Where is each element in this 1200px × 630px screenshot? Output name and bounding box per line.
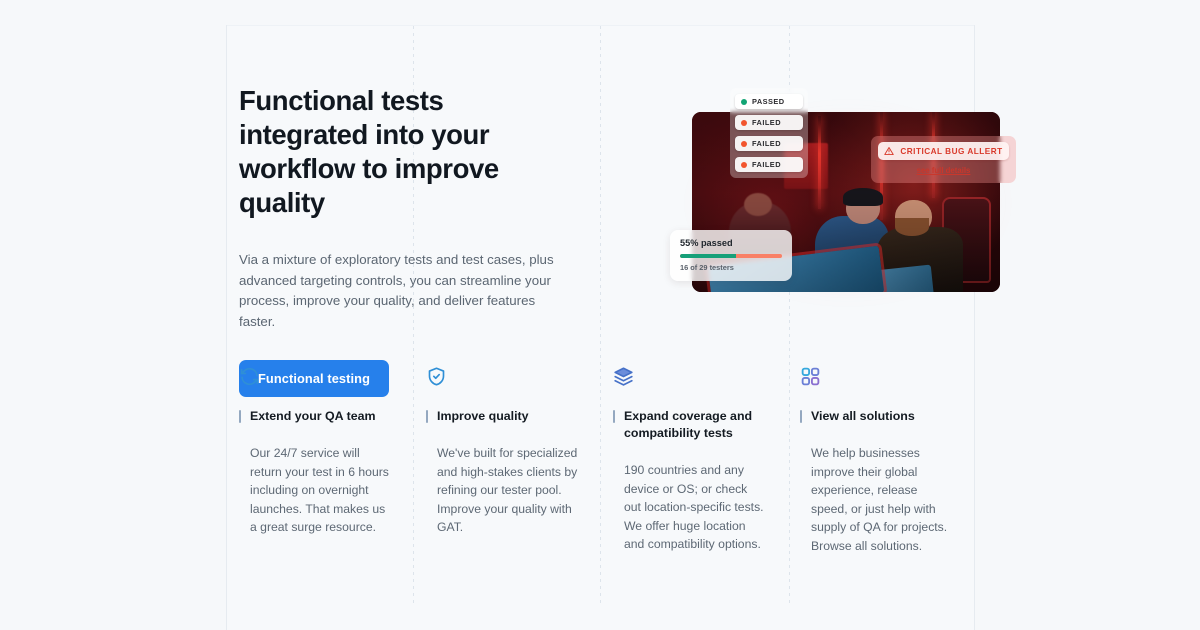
hero-section: Functional tests integrated into your wo… [239,84,579,397]
pass-rate-title: 55% passed [680,238,782,248]
status-pill[interactable]: FAILED [735,115,803,130]
feature-body: We've built for specialized and high-sta… [437,444,578,537]
feature-icon-slot [426,366,578,388]
pass-rate-progressbar [680,254,782,258]
refresh-sync-icon [239,366,260,387]
feature-body: We help businesses improve their global … [811,444,952,555]
status-pill-label: FAILED [752,160,781,169]
feature-card-extend-qa-team[interactable]: Extend your QA team Our 24/7 service wil… [226,366,413,606]
hero-description: Via a mixture of exploratory tests and t… [239,250,569,332]
pass-rate-subtitle: 16 of 29 testers [680,263,782,272]
page-title: Functional tests integrated into your wo… [239,84,579,220]
status-dot-failed-icon [741,141,747,147]
status-pill[interactable]: FAILED [735,136,803,151]
critical-bug-alert-title: CRITICAL BUG ALLERT [900,147,1002,156]
status-pill[interactable]: PASSED [735,94,803,109]
status-dot-passed-icon [741,99,747,105]
status-pill[interactable]: FAILED [735,157,803,172]
feature-accent-bar [613,410,615,423]
feature-title-row: View all solutions [800,408,952,425]
feature-title-row: Improve quality [426,408,578,425]
status-pill-label: FAILED [752,118,781,127]
feature-title: Expand coverage and compatibility tests [624,408,765,442]
layers-stack-icon [613,366,634,387]
status-dot-failed-icon [741,120,747,126]
feature-icon-slot [800,366,952,388]
feature-title: Extend your QA team [250,408,376,425]
page-root: Functional tests integrated into your wo… [0,0,1200,630]
feature-body: 190 countries and any device or OS; or c… [624,461,765,554]
feature-accent-bar [426,410,428,423]
critical-bug-alert-row[interactable]: CRITICAL BUG ALLERT [878,142,1009,160]
feature-body: Our 24/7 service will return your test i… [250,444,391,537]
pass-rate-card: 55% passed 16 of 29 testers [670,230,792,281]
status-pill-list: PASSED FAILED FAILED FAILED [730,88,808,178]
feature-card-improve-quality[interactable]: Improve quality We've built for speciali… [413,366,600,606]
shield-check-icon [426,366,447,387]
status-pill-label: PASSED [752,97,785,106]
feature-columns: Extend your QA team Our 24/7 service wil… [226,366,974,606]
feature-accent-bar [239,410,241,423]
feature-title-row: Expand coverage and compatibility tests [613,408,765,442]
grid-squares-icon [800,366,821,387]
feature-accent-bar [800,410,802,423]
see-full-details-link[interactable]: see full details [878,166,1009,175]
feature-card-expand-coverage[interactable]: Expand coverage and compatibility tests … [600,366,787,606]
critical-bug-alert-card: CRITICAL BUG ALLERT see full details [871,136,1016,183]
feature-card-view-all-solutions[interactable]: View all solutions We help businesses im… [787,366,974,606]
pass-rate-progress-fill [680,254,736,258]
feature-title: Improve quality [437,408,529,425]
status-pill-label: FAILED [752,139,781,148]
feature-title: View all solutions [811,408,915,425]
media-collage: PASSED FAILED FAILED FAILED CRITICAL BUG [668,80,1020,310]
status-dot-failed-icon [741,162,747,168]
warning-triangle-icon [884,146,894,156]
feature-icon-slot [613,366,765,388]
feature-icon-slot [239,366,391,388]
feature-title-row: Extend your QA team [239,408,391,425]
